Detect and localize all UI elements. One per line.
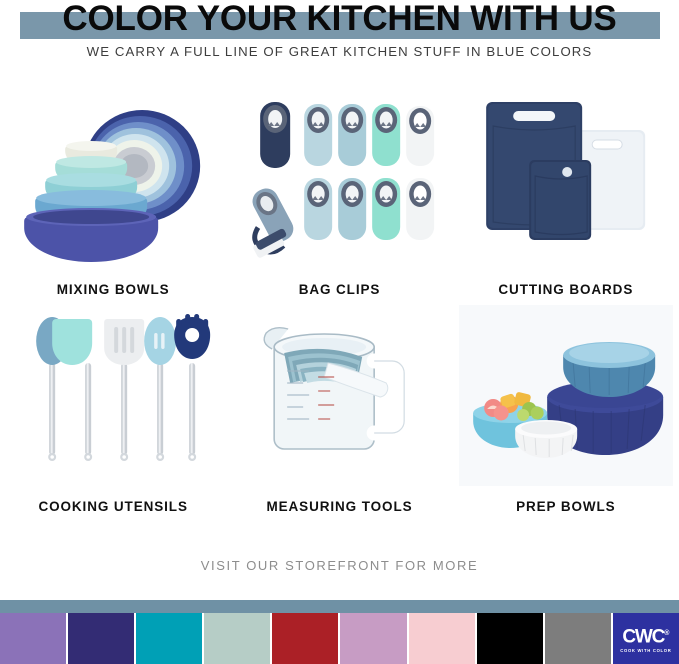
color-swatch: [68, 613, 134, 664]
mixing-bowls-tile: [6, 88, 220, 269]
category-cell-cutting-boards[interactable]: CUTTING BOARDS: [453, 88, 679, 305]
cooking-utensils-image: [6, 305, 220, 486]
measuring-tools-tile: [232, 305, 446, 486]
brand-tagline: COOK WITH COLOR: [620, 648, 671, 653]
category-cell-mixing-bowls[interactable]: MIXING BOWLS: [0, 88, 226, 305]
bag-clips-image: [232, 88, 446, 269]
color-swatch: [340, 613, 406, 664]
page-subtitle: WE CARRY A FULL LINE OF GREAT KITCHEN ST…: [0, 44, 679, 59]
color-swatch: [0, 613, 66, 664]
color-swatch: [136, 613, 202, 664]
strip-accent-bar: [0, 600, 679, 613]
brand-mark-text: CWC: [622, 626, 664, 647]
cutting-boards-tile: [459, 88, 673, 269]
color-swatch-strip: CWC® COOK WITH COLOR: [0, 613, 679, 664]
color-swatch: [477, 613, 543, 664]
page-header: COLOR YOUR KITCHEN WITH US WE CARRY A FU…: [0, 0, 679, 76]
registered-icon: ®: [664, 630, 669, 637]
category-label-cooking-utensils: COOKING UTENSILS: [0, 499, 226, 514]
bag-clips-tile: [232, 88, 446, 269]
category-grid: MIXING BOWLS: [0, 88, 679, 522]
cutting-boards-image: [459, 88, 673, 269]
category-cell-bag-clips[interactable]: BAG CLIPS: [226, 88, 452, 305]
cooking-utensils-tile: [6, 305, 220, 486]
mixing-bowls-image: [6, 88, 220, 269]
brand-mark: CWC®: [622, 624, 669, 646]
category-cell-prep-bowls[interactable]: PREP BOWLS: [453, 305, 679, 522]
storefront-note[interactable]: VISIT OUR STOREFRONT FOR MORE: [0, 558, 679, 573]
page-title: COLOR YOUR KITCHEN WITH US: [0, 0, 679, 41]
category-cell-cooking-utensils[interactable]: COOKING UTENSILS: [0, 305, 226, 522]
brand-logo[interactable]: CWC® COOK WITH COLOR: [613, 613, 679, 664]
color-swatch: [272, 613, 338, 664]
measuring-tools-image: [232, 305, 446, 486]
category-label-measuring-tools: MEASURING TOOLS: [226, 499, 452, 514]
category-label-bag-clips: BAG CLIPS: [226, 282, 452, 297]
category-label-mixing-bowls: MIXING BOWLS: [0, 282, 226, 297]
color-swatch: [545, 613, 611, 664]
category-cell-measuring-tools[interactable]: MEASURING TOOLS: [226, 305, 452, 522]
prep-bowls-image: [459, 305, 673, 486]
color-swatch: [204, 613, 270, 664]
color-swatch: [409, 613, 475, 664]
category-label-cutting-boards: CUTTING BOARDS: [453, 282, 679, 297]
prep-bowls-tile: [459, 305, 673, 486]
category-label-prep-bowls: PREP BOWLS: [453, 499, 679, 514]
